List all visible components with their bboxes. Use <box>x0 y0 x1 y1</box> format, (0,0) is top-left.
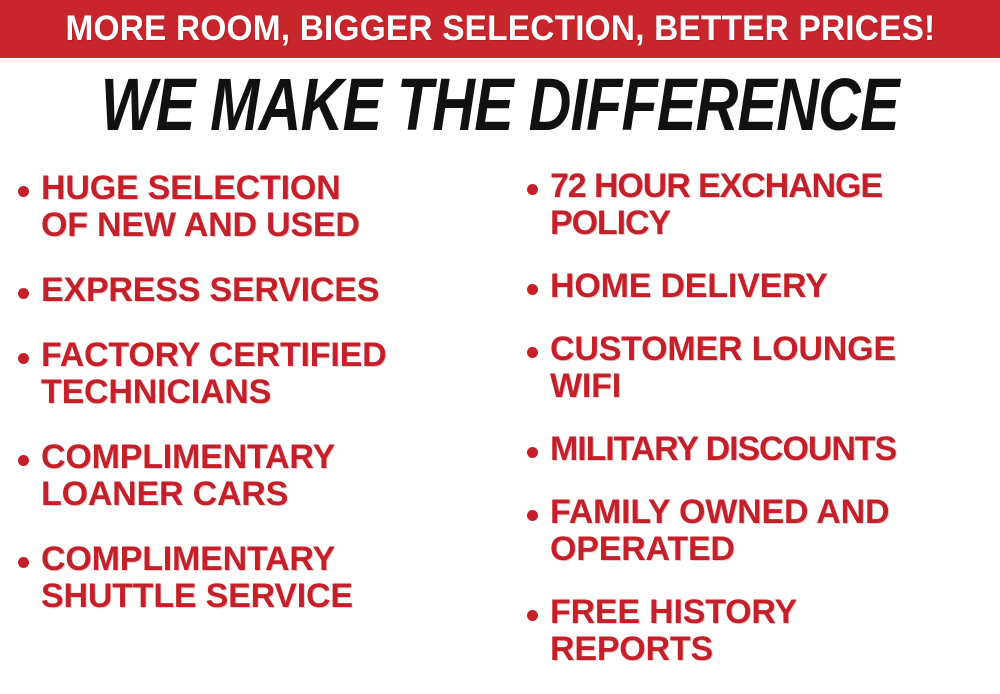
benefit-label: COMPLIMENTARY SHUTTLE SERVICE <box>41 541 353 615</box>
benefit-label: HOME DELIVERY <box>550 268 828 305</box>
benefit-label: FACTORY CERTIFIED TECHNICIANS <box>41 337 386 411</box>
benefit-label: EXPRESS SERVICES <box>41 272 379 309</box>
bullet-dot-icon <box>18 186 29 197</box>
bullet-dot-icon <box>18 455 29 466</box>
benefit-item: COMPLIMENTARY SHUTTLE SERVICE <box>18 541 505 615</box>
benefit-label: HUGE SELECTION OF NEW AND USED <box>41 170 360 244</box>
benefit-item: MILITARY DISCOUNTS <box>527 431 1000 468</box>
promotional-poster: MORE ROOM, BIGGER SELECTION, BETTER PRIC… <box>0 0 1000 694</box>
bullet-dot-icon <box>527 610 538 621</box>
benefit-label: FAMILY OWNED AND OPERATED <box>550 494 889 568</box>
bullet-dot-icon <box>527 184 538 195</box>
top-banner: MORE ROOM, BIGGER SELECTION, BETTER PRIC… <box>0 0 1000 58</box>
bullet-dot-icon <box>527 284 538 295</box>
benefits-columns: HUGE SELECTION OF NEW AND USED EXPRESS S… <box>0 160 1000 694</box>
benefits-column-left: HUGE SELECTION OF NEW AND USED EXPRESS S… <box>0 160 505 694</box>
benefit-label: CUSTOMER LOUNGE WIFI <box>550 331 896 405</box>
benefit-item: EXPRESS SERVICES <box>18 272 505 309</box>
benefit-label: MILITARY DISCOUNTS <box>550 431 896 468</box>
main-headline: WE MAKE THE DIFFERENCE <box>101 68 899 142</box>
banner-headline-text: MORE ROOM, BIGGER SELECTION, BETTER PRIC… <box>65 11 935 47</box>
bullet-dot-icon <box>527 347 538 358</box>
bullet-dot-icon <box>18 557 29 568</box>
bullet-dot-icon <box>18 353 29 364</box>
benefit-label: FREE HISTORY REPORTS <box>550 594 797 668</box>
bullet-dot-icon <box>18 288 29 299</box>
benefit-item: CUSTOMER LOUNGE WIFI <box>527 331 1000 405</box>
benefit-item: HUGE SELECTION OF NEW AND USED <box>18 170 505 244</box>
benefit-label: COMPLIMENTARY LOANER CARS <box>41 439 335 513</box>
benefit-item: 72 HOUR EXCHANGE POLICY <box>527 168 1000 242</box>
bullet-dot-icon <box>527 447 538 458</box>
benefits-column-right: 72 HOUR EXCHANGE POLICY HOME DELIVERY CU… <box>505 160 1000 694</box>
benefit-item: FREE HISTORY REPORTS <box>527 594 1000 668</box>
benefit-item: FACTORY CERTIFIED TECHNICIANS <box>18 337 505 411</box>
benefit-item: FAMILY OWNED AND OPERATED <box>527 494 1000 568</box>
benefit-item: COMPLIMENTARY LOANER CARS <box>18 439 505 513</box>
bullet-dot-icon <box>527 510 538 521</box>
benefit-label: 72 HOUR EXCHANGE POLICY <box>550 168 882 242</box>
headline-container: WE MAKE THE DIFFERENCE <box>0 68 1000 142</box>
benefit-item: HOME DELIVERY <box>527 268 1000 305</box>
